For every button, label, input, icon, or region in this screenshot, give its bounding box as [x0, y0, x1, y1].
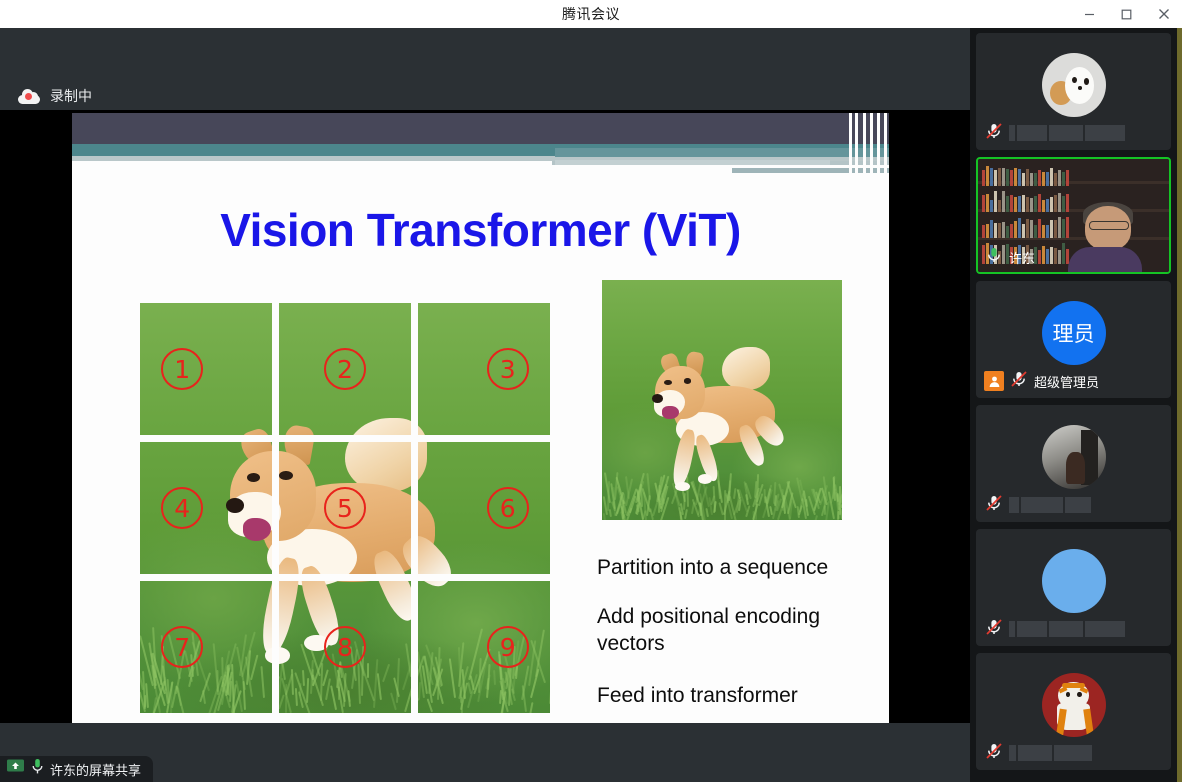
redacted-name: [1009, 497, 1091, 513]
mic-muted-icon: [984, 121, 1004, 146]
minimize-button[interactable]: [1071, 0, 1108, 28]
patch-grid: 123456789: [140, 303, 550, 713]
participant-nameplate-5: [982, 618, 1132, 640]
participant-tile-4[interactable]: [976, 405, 1171, 522]
screen-share-label: 许东的屏幕共享: [50, 760, 141, 779]
image-patch-7: 7: [140, 581, 272, 713]
slide-banner-decoration: [72, 113, 889, 173]
screen-share-icon: [6, 758, 25, 780]
participant-panel[interactable]: 许东理员超级管理员: [970, 28, 1177, 782]
patch-number-3: 3: [487, 348, 529, 390]
participant-nameplate-4: [982, 494, 1098, 516]
mic-muted-icon: [984, 493, 1004, 518]
participant-nameplate-6: [982, 742, 1099, 764]
participant-nameplate-1: [982, 122, 1132, 144]
redacted-name: [1009, 745, 1092, 761]
participant-tile-3[interactable]: 理员超级管理员: [976, 281, 1171, 398]
recording-label: 录制中: [50, 86, 92, 106]
image-patch-8: 8: [279, 581, 411, 713]
participant-tile-6[interactable]: [976, 653, 1171, 770]
mic-muted-icon: [984, 617, 1004, 642]
screen-share-status[interactable]: 许东的屏幕共享: [0, 756, 153, 782]
recording-bar: 录制中: [0, 28, 970, 110]
image-patch-1: 1: [140, 303, 272, 435]
image-patch-4: 4: [140, 442, 272, 574]
window-controls: [1071, 0, 1182, 28]
slide-title: Vision Transformer (ViT): [72, 203, 889, 257]
shared-screen-stage: 录制中 Vision Transformer (ViT) 123456789 P…: [0, 28, 970, 723]
bottom-toolbar: 许东的屏幕共享: [0, 723, 970, 782]
image-patch-5: 5: [279, 442, 411, 574]
patch-number-9: 9: [487, 626, 529, 668]
participant-tile-2[interactable]: 许东: [976, 157, 1171, 274]
patch-number-6: 6: [487, 487, 529, 529]
slide-bullet-2: Add positional encoding vectors: [597, 604, 877, 658]
image-patch-9: 9: [418, 581, 550, 713]
mic-active-icon: [984, 245, 1004, 270]
patch-number-5: 5: [324, 487, 366, 529]
source-image: [602, 280, 842, 520]
mic-muted-icon: [984, 741, 1004, 766]
patch-number-8: 8: [324, 626, 366, 668]
microphone-icon: [31, 758, 44, 780]
participant-nameplate-2: 许东: [982, 246, 1042, 268]
patch-number-2: 2: [324, 348, 366, 390]
image-patch-3: 3: [418, 303, 550, 435]
participant-tile-5[interactable]: [976, 529, 1171, 646]
window-title: 腾讯会议: [562, 4, 620, 24]
maximize-button[interactable]: [1108, 0, 1145, 28]
participant-name: 超级管理员: [1034, 372, 1099, 391]
recording-indicator: 录制中: [18, 86, 92, 106]
slide-bullet-1: Partition into a sequence: [597, 555, 877, 582]
avatar-initials: 理员: [1053, 318, 1095, 348]
host-badge: [984, 371, 1004, 391]
redacted-name: [1009, 125, 1125, 141]
participant-tile-1[interactable]: [976, 33, 1171, 150]
patch-number-1: 1: [161, 348, 203, 390]
tencent-meeting-window: 腾讯会议 录制中: [0, 0, 1182, 782]
participant-nameplate-3: 超级管理员: [982, 370, 1106, 392]
image-patch-6: 6: [418, 442, 550, 574]
image-patch-2: 2: [279, 303, 411, 435]
close-button[interactable]: [1145, 0, 1182, 28]
participant-name: 许东: [1009, 248, 1035, 267]
presentation-slide: Vision Transformer (ViT) 123456789 Parti…: [72, 113, 889, 723]
patch-number-7: 7: [161, 626, 203, 668]
mic-muted-icon: [1009, 369, 1029, 394]
slide-bullet-3: Feed into transformer: [597, 683, 877, 710]
cloud-recording-icon: [18, 89, 40, 104]
title-bar: 腾讯会议: [0, 0, 1182, 28]
panel-edge-strip: [1177, 28, 1182, 782]
redacted-name: [1009, 621, 1125, 637]
patch-number-4: 4: [161, 487, 203, 529]
